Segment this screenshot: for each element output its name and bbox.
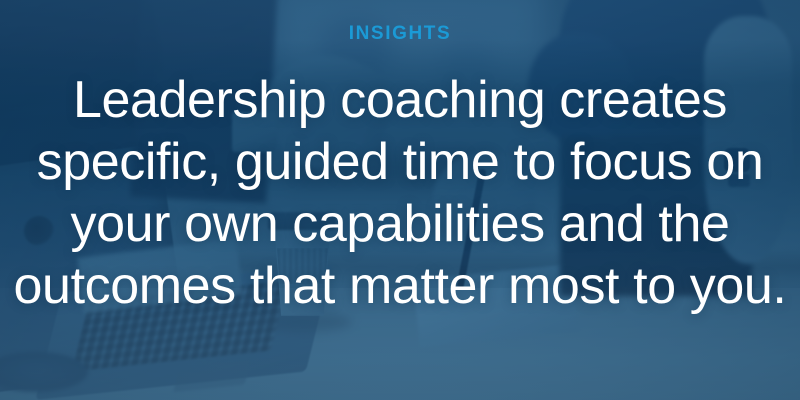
insights-quote-card: INSIGHTS Leadership coaching creates spe…	[0, 0, 800, 400]
headline-line: outcomes that matter most to you.	[8, 255, 792, 317]
headline-line: Leadership coaching creates	[8, 69, 792, 131]
card-content: INSIGHTS Leadership coaching creates spe…	[0, 0, 800, 400]
headline-line: your own capabilities and the	[8, 193, 792, 255]
eyebrow-label: INSIGHTS	[349, 24, 452, 43]
headline-quote: Leadership coaching creates specific, gu…	[0, 69, 800, 317]
headline-line: specific, guided time to focus on	[8, 131, 792, 193]
